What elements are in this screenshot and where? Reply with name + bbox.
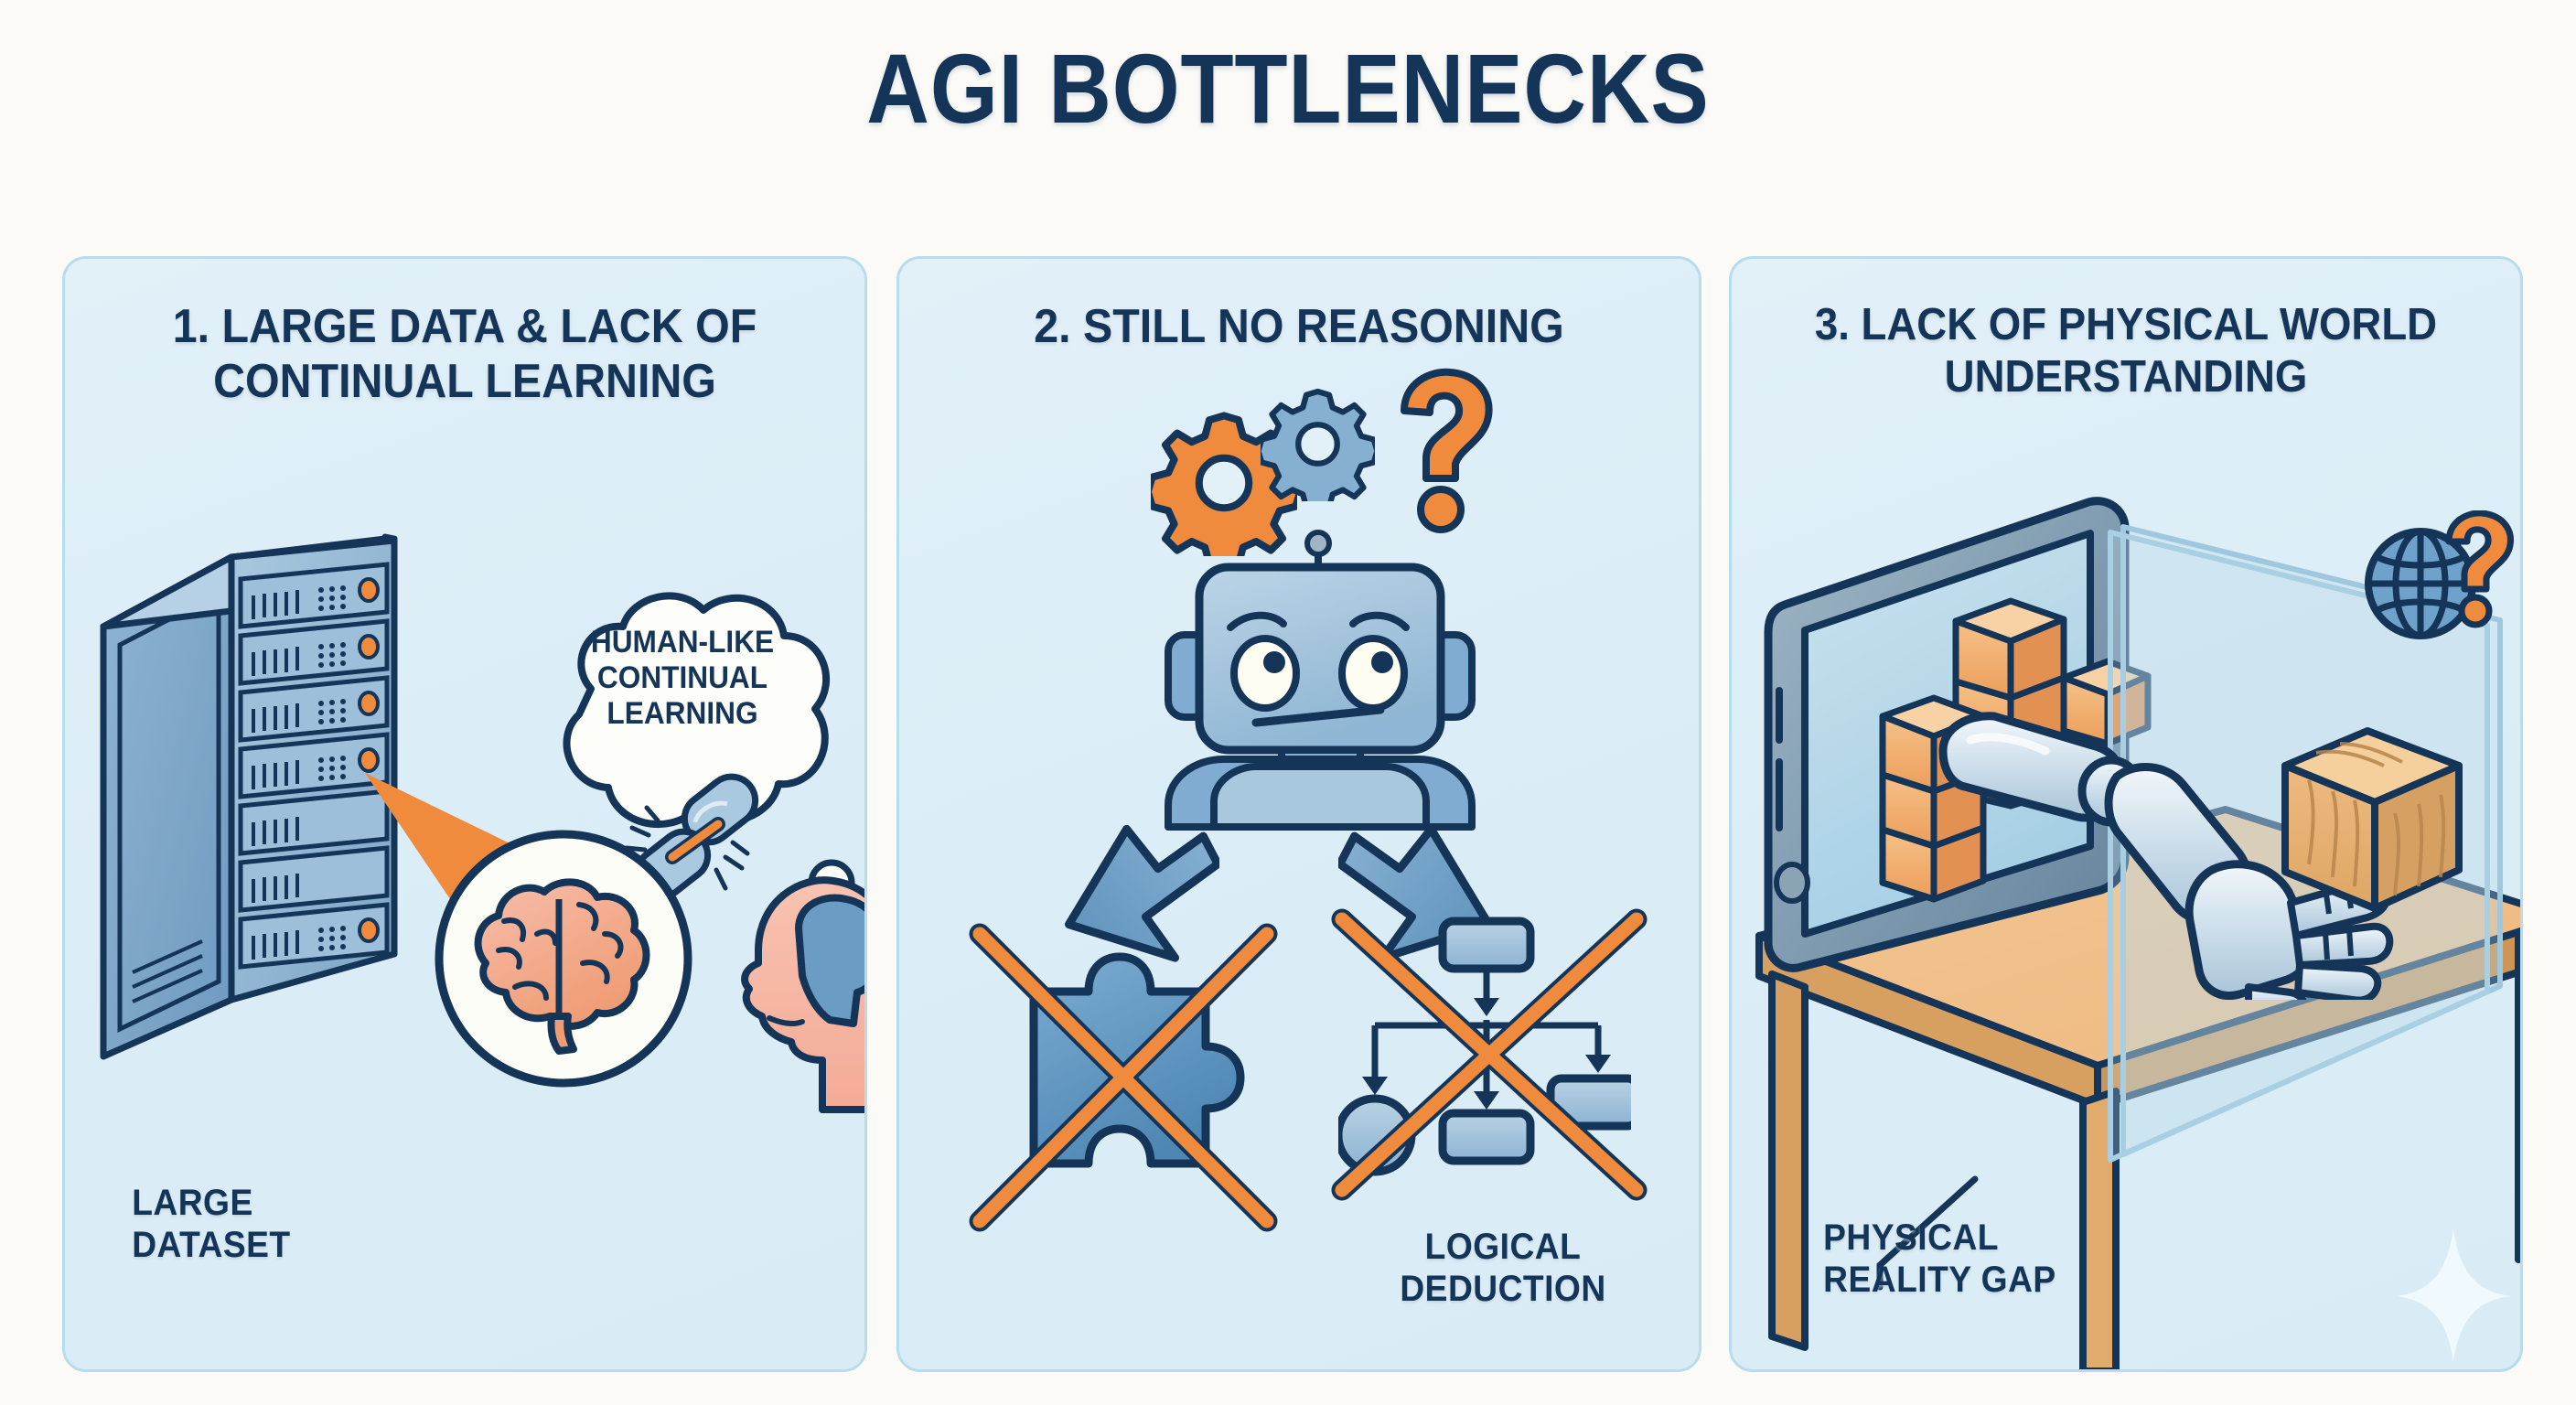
crossed-out-x-icon — [954, 908, 1293, 1247]
brain-circle-icon — [431, 826, 696, 1091]
panel-large-data: 1. LARGE DATA & LACK OF CONTINUAL LEARNI… — [62, 256, 867, 1372]
robot-head-icon — [1128, 529, 1512, 831]
sparkle-watermark-icon — [2394, 1227, 2513, 1364]
panel-2-heading: 2. STILL NO REASONING — [928, 299, 1671, 354]
panel-3-caption: PHYSICAL REALITY GAP — [1823, 1217, 2070, 1301]
panels-container: 1. LARGE DATA & LACK OF CONTINUAL LEARNI… — [62, 256, 2523, 1372]
blue-gear-icon — [1261, 387, 1375, 501]
question-mark-icon — [1384, 367, 1503, 541]
human-head-profile-icon — [705, 863, 867, 1137]
question-mark-icon — [2436, 510, 2518, 629]
wooden-cube-icon — [2276, 725, 2477, 927]
panel-3-heading: 3. LACK OF PHYSICAL WORLD UNDERSTANDING — [1759, 299, 2493, 403]
panel-1-caption: LARGE DATASET — [132, 1183, 404, 1266]
panel-2-caption: LOGICAL DEDUCTION — [1363, 1227, 1644, 1310]
panel-1-heading: 1. LARGE DATA & LACK OF CONTINUAL LEARNI… — [93, 299, 837, 410]
thought-bubble-text: HUMAN-LIKE CONTINUAL LEARNING — [551, 625, 814, 731]
panel-no-reasoning: 2. STILL NO REASONING — [896, 256, 1701, 1372]
panel-physical-world: 3. LACK OF PHYSICAL WORLD UNDERSTANDING — [1729, 256, 2523, 1372]
page-title: AGI BOTTLENECKS — [155, 31, 2421, 145]
crossed-out-x-icon — [1320, 899, 1658, 1210]
